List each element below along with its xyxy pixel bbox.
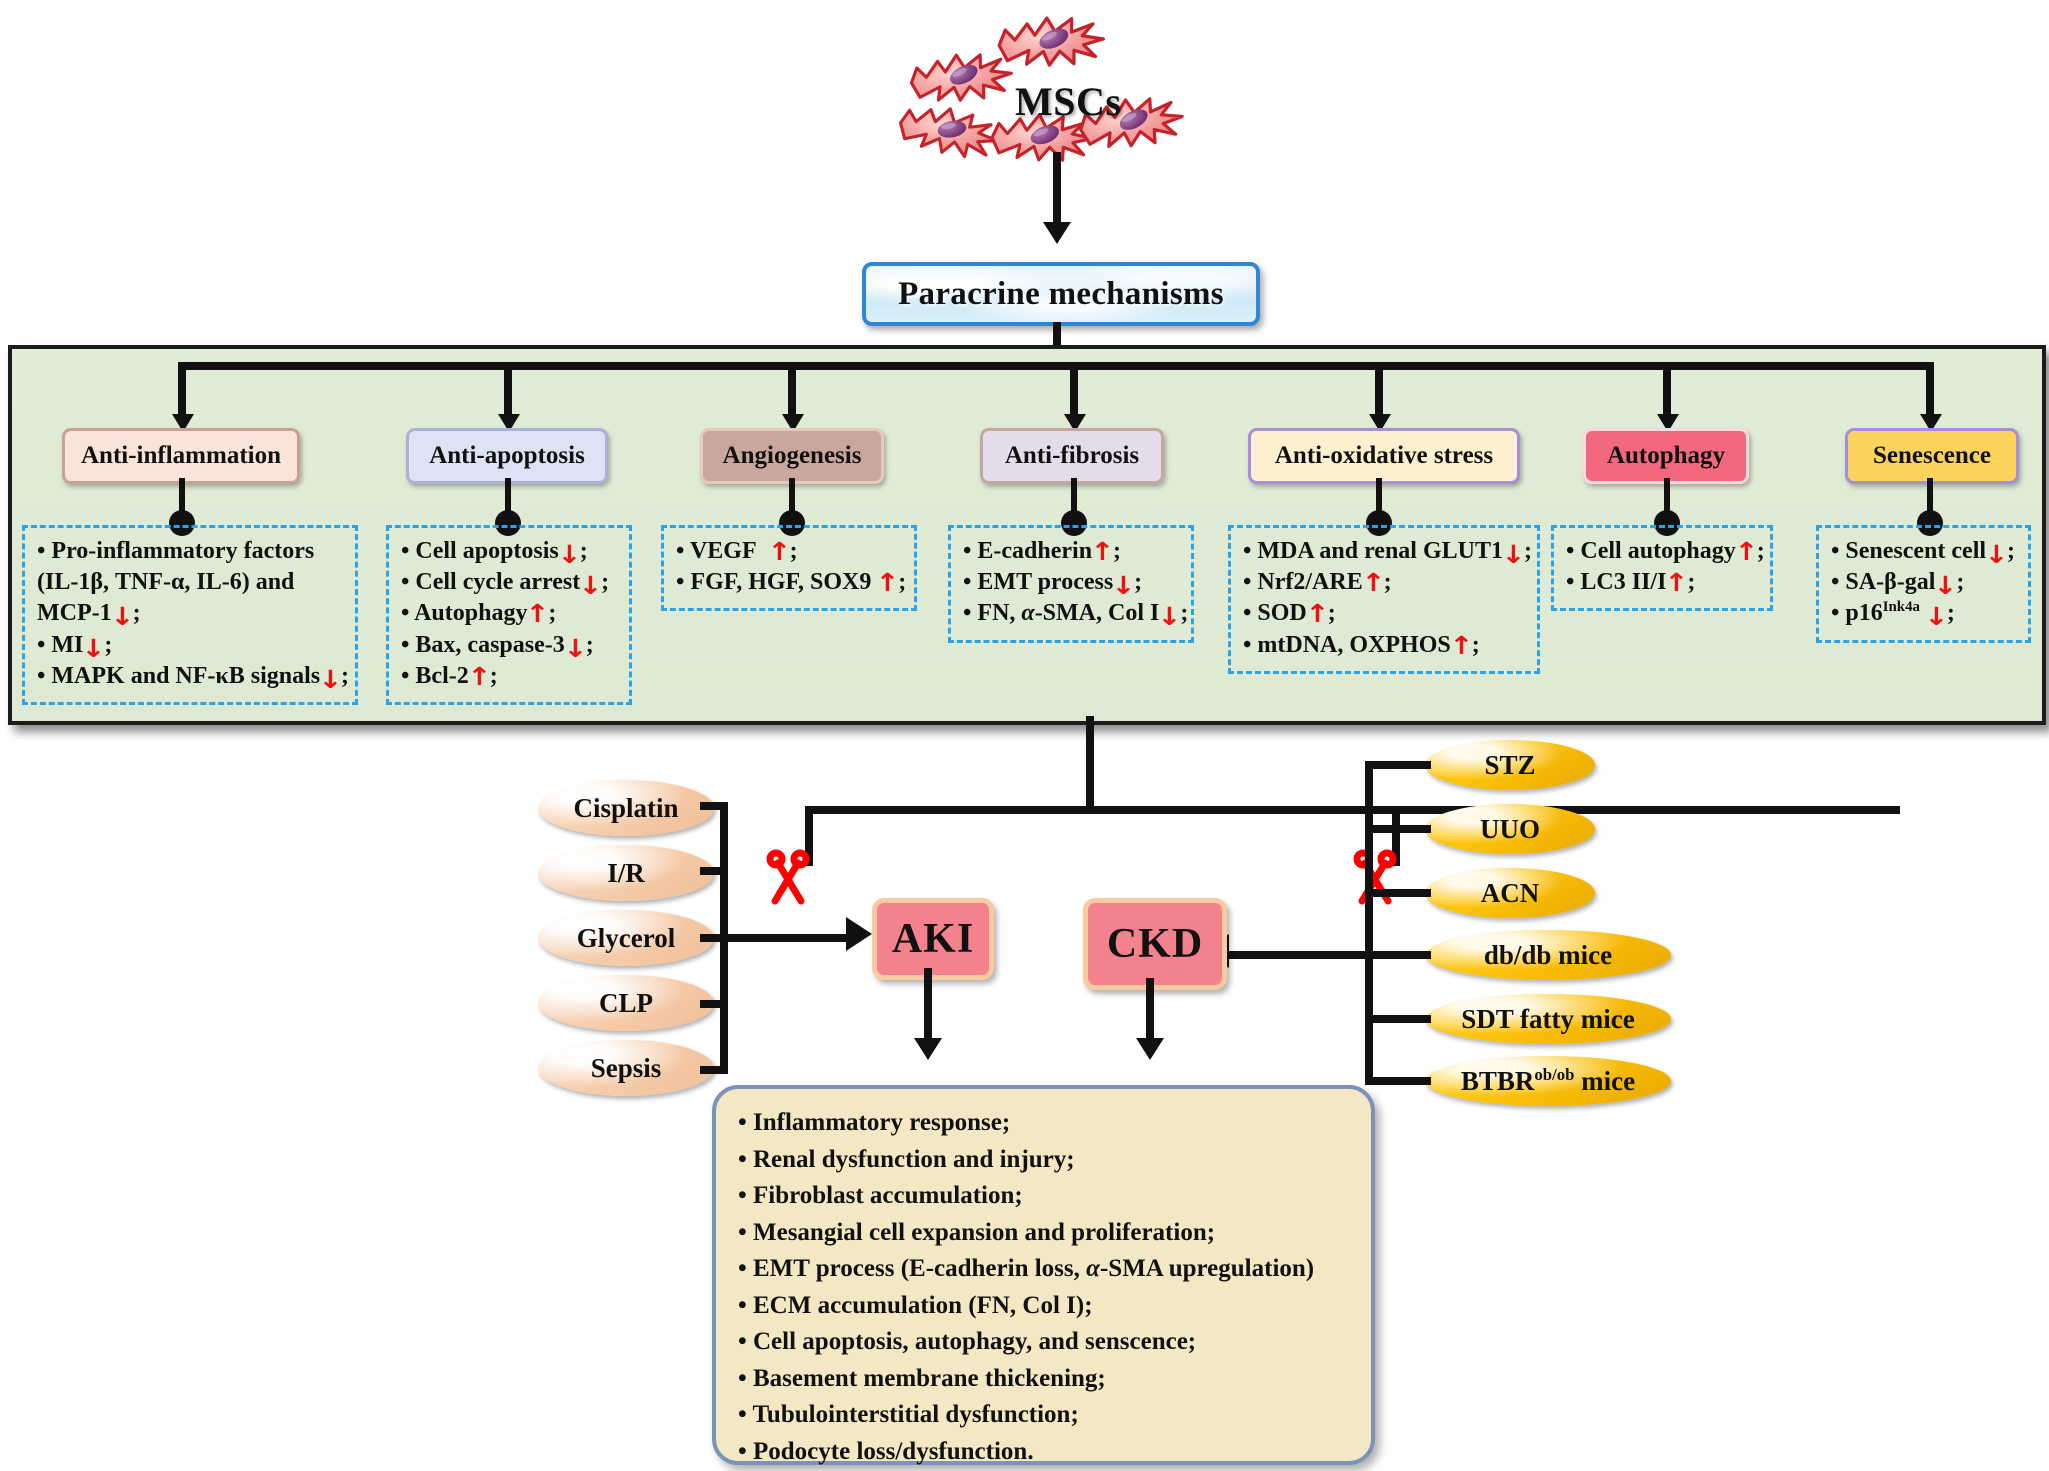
stem-anti-fibrosis (1070, 362, 1078, 418)
outcome-item: • EMT process (E-cadherin loss, α-SMA up… (738, 1251, 1349, 1288)
scissors-icon (1352, 849, 1398, 907)
mechanism-chip-anti-oxidative-stress[interactable]: Anti-oxidative stress (1248, 428, 1520, 484)
paracrine-mechanisms-label: Paracrine mechanisms (898, 276, 1224, 313)
ckd-bracket-stub (1365, 761, 1431, 769)
aki-model-oval-ir[interactable]: I/R (538, 845, 714, 901)
connector-msc-to-paracrine (1053, 152, 1061, 224)
outcome-item: • Tubulointerstitial dysfunction; (738, 1397, 1349, 1434)
ckd-bracket-spine (1365, 761, 1373, 1083)
detail-box-anti-inflammation: • Pro-inflammatory factors (IL-1β, TNF-α… (22, 525, 358, 705)
detail-box-anti-apoptosis: • Cell apoptosis↓; • Cell cycle arrest↓;… (386, 525, 632, 705)
ckd-model-label: db/db mice (1484, 940, 1612, 971)
aki-model-label: I/R (607, 858, 645, 889)
arrow-aki-to-outcomes (914, 1038, 942, 1060)
ckd-bracket-stub (1365, 889, 1431, 897)
mechanism-label-anti-apoptosis: Anti-apoptosis (429, 442, 585, 470)
scissors-icon (765, 849, 811, 907)
mechanism-chip-anti-fibrosis[interactable]: Anti-fibrosis (980, 428, 1164, 484)
aki-bracket-stub (700, 802, 728, 810)
aki-bracket-stub (700, 1000, 728, 1008)
paracrine-mechanisms-box[interactable]: Paracrine mechanisms (862, 262, 1260, 326)
mechanism-label-anti-fibrosis: Anti-fibrosis (1005, 442, 1139, 470)
detail-box-angiogenesis: • VEGF ↑; • FGF, HGF, SOX9 ↑; (661, 525, 917, 611)
ckd-model-label: STZ (1484, 750, 1535, 781)
stem-angiogenesis (788, 362, 796, 418)
ckd-label: CKD (1107, 920, 1203, 968)
mechanism-label-anti-inflammation: Anti-inflammation (81, 442, 281, 470)
ckd-model-oval-dbdb[interactable]: db/db mice (1425, 930, 1671, 980)
arrow-msc-to-paracrine (1043, 222, 1071, 244)
outcome-item: • Fibroblast accumulation; (738, 1178, 1349, 1215)
ckd-bracket-stub (1365, 1077, 1431, 1085)
ckd-model-oval-uuo[interactable]: UUO (1425, 804, 1595, 854)
outcomes-list: • Inflammatory response; • Renal dysfunc… (738, 1105, 1349, 1470)
detail-item: • Pro-inflammatory factors (IL-1β, TNF-α… (37, 536, 343, 630)
mechanism-label-autophagy: Autophagy (1607, 442, 1725, 470)
aki-bracket-stub (700, 1066, 728, 1074)
stem-autophagy (1663, 362, 1671, 418)
detail-item: • LC3 II/I↑; (1566, 567, 1758, 598)
aki-bracket-stub (700, 867, 728, 875)
detail-box-anti-oxidative-stress: • MDA and renal GLUT1↓; • Nrf2/ARE↑; • S… (1228, 525, 1540, 674)
mechanism-chip-senescence[interactable]: Senescence (1845, 428, 2019, 484)
ckd-model-oval-sdt[interactable]: SDT fatty mice (1425, 994, 1671, 1044)
stem-senescence (1926, 362, 1934, 418)
detail-item: • Cell apoptosis↓; (401, 536, 617, 567)
detail-item: • p16Ink4a ↓; (1831, 598, 2016, 629)
ckd-model-label: SDT fatty mice (1461, 1004, 1634, 1035)
detail-box-autophagy: • Cell autophagy↑; • LC3 II/I↑; (1551, 525, 1773, 611)
outcome-item: • Mesangial cell expansion and prolifera… (738, 1215, 1349, 1252)
detail-item: • MI↓; (37, 630, 343, 661)
ckd-box[interactable]: CKD (1083, 898, 1227, 990)
detail-item: • Cell autophagy↑; (1566, 536, 1758, 567)
aki-model-label: CLP (599, 988, 653, 1019)
detail-item: • Cell cycle arrest↓; (401, 567, 617, 598)
aki-model-oval-cisplatin[interactable]: Cisplatin (538, 780, 714, 836)
detail-item: • SOD↑; (1243, 598, 1525, 629)
mechanism-chip-angiogenesis[interactable]: Angiogenesis (700, 428, 884, 484)
ckd-model-label: ACN (1481, 878, 1540, 909)
mechanism-chip-autophagy[interactable]: Autophagy (1583, 428, 1749, 484)
detail-item: • mtDNA, OXPHOS↑; (1243, 630, 1525, 661)
arrow-models-to-aki (846, 917, 872, 951)
aki-model-label: Cisplatin (573, 793, 678, 824)
ckd-model-label: BTBRob/ob mice (1461, 1065, 1635, 1097)
aki-label: AKI (892, 915, 974, 963)
connector-models-to-aki (700, 934, 850, 942)
outcome-item: • Basement membrane thickening; (738, 1361, 1349, 1398)
outcome-item: • Podocyte loss/dysfunction. (738, 1434, 1349, 1471)
aki-model-label: Glycerol (577, 923, 675, 954)
ckd-model-oval-stz[interactable]: STZ (1425, 740, 1595, 790)
msc-label: MSCs (1015, 78, 1121, 125)
stem-anti-inflammation (178, 362, 186, 418)
outcome-item: • Renal dysfunction and injury; (738, 1142, 1349, 1179)
detail-item: • FN, α-SMA, Col I↓; (963, 598, 1179, 629)
ckd-model-label: UUO (1480, 814, 1540, 845)
detail-item: • E-cadherin↑; (963, 536, 1179, 567)
connector-aki-to-outcomes (924, 968, 932, 1040)
outcome-item: • Cell apoptosis, autophagy, and senscen… (738, 1324, 1349, 1361)
stem-anti-apoptosis (504, 362, 512, 418)
detail-item: • Senescent cell↓; (1831, 536, 2016, 567)
ckd-bracket-stub (1365, 825, 1431, 833)
connector-panel-down (1086, 716, 1094, 812)
mechanism-label-senescence: Senescence (1873, 442, 1991, 470)
detail-item: • FGF, HGF, SOX9 ↑; (676, 567, 902, 598)
ckd-model-oval-acn[interactable]: ACN (1425, 868, 1595, 918)
aki-model-oval-clp[interactable]: CLP (538, 975, 714, 1031)
mechanism-chip-anti-apoptosis[interactable]: Anti-apoptosis (406, 428, 608, 484)
detail-item: • Nrf2/ARE↑; (1243, 567, 1525, 598)
detail-box-senescence: • Senescent cell↓; • SA-β-gal↓; • p16Ink… (1816, 525, 2031, 643)
detail-box-anti-fibrosis: • E-cadherin↑; • EMT process↓; • FN, α-S… (948, 525, 1194, 643)
ckd-model-oval-btbr[interactable]: BTBRob/ob mice (1425, 1056, 1671, 1106)
aki-model-label: Sepsis (591, 1053, 662, 1084)
detail-item: • MAPK and NF-κB signals↓; (37, 661, 343, 692)
aki-model-oval-glycerol[interactable]: Glycerol (538, 910, 714, 966)
aki-model-oval-sepsis[interactable]: Sepsis (538, 1040, 714, 1096)
aki-box[interactable]: AKI (872, 898, 994, 980)
connector-aki-ckd-bus (805, 806, 1900, 814)
outcomes-box: • Inflammatory response; • Renal dysfunc… (712, 1085, 1375, 1465)
mechanism-label-anti-oxidative-stress: Anti-oxidative stress (1275, 442, 1493, 470)
detail-item: • EMT process↓; (963, 567, 1179, 598)
mechanism-chip-anti-inflammation[interactable]: Anti-inflammation (62, 428, 300, 484)
ckd-bracket-stub (1365, 1015, 1431, 1023)
connector-models-to-ckd (1229, 951, 1431, 959)
detail-item: • Autophagy↑; (401, 598, 617, 629)
outcome-item: • ECM accumulation (FN, Col I); (738, 1288, 1349, 1325)
connector-ckd-to-outcomes (1146, 978, 1154, 1040)
mechanism-label-angiogenesis: Angiogenesis (723, 442, 862, 470)
detail-item: • Bcl-2↑; (401, 661, 617, 692)
detail-item: • MDA and renal GLUT1↓; (1243, 536, 1525, 567)
detail-item: • VEGF ↑; (676, 536, 902, 567)
arrow-ckd-to-outcomes (1136, 1038, 1164, 1060)
detail-item: • SA-β-gal↓; (1831, 567, 2016, 598)
detail-item: • Bax, caspase-3↓; (401, 630, 617, 661)
outcome-item: • Inflammatory response; (738, 1105, 1349, 1142)
stem-anti-oxidative-stress (1375, 362, 1383, 418)
